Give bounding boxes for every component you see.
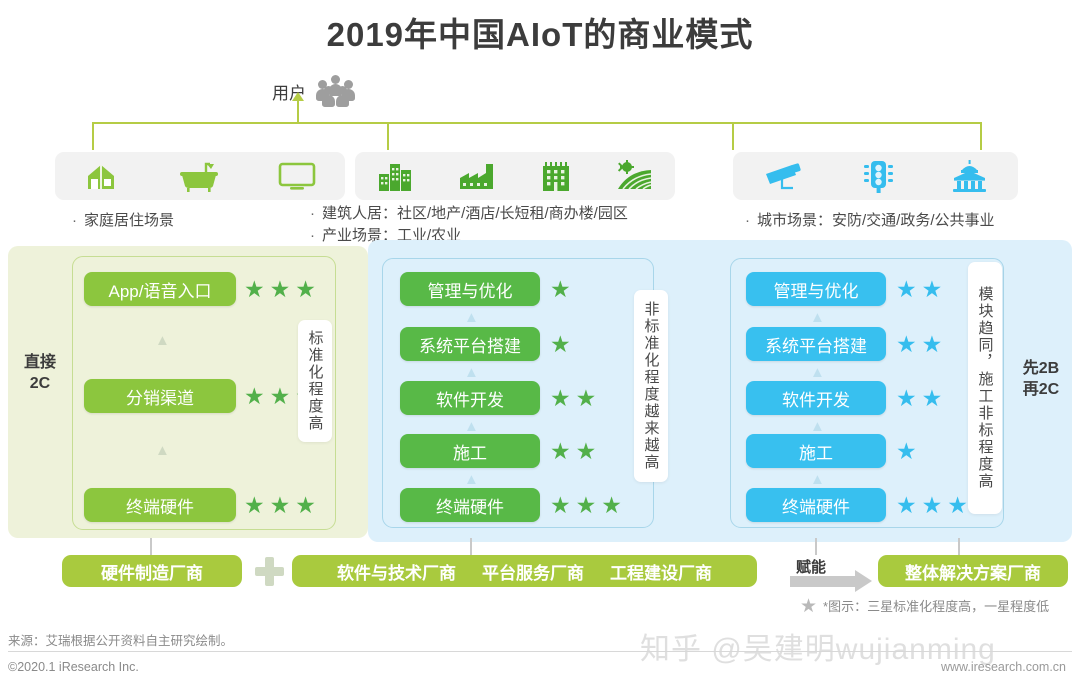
chip-system-platform-right[interactable]: 系统平台搭建	[746, 327, 886, 361]
side-label-2b: 先2B	[1010, 358, 1072, 379]
chip-terminal-hardware-2c[interactable]: 终端硬件	[84, 488, 236, 522]
enable-arrow-icon	[790, 576, 856, 587]
chip-terminal-hardware-mid[interactable]: 终端硬件	[400, 488, 540, 522]
page-title: 2019年中国AIoT的商业模式	[0, 8, 1080, 56]
flow-arrow-icon: ▲	[810, 419, 825, 434]
flow-arrow-icon: ▲	[464, 310, 479, 325]
infographic-root: 2019年中国AIoT的商业模式 用户	[0, 0, 1080, 691]
scene-panel-city	[733, 152, 1018, 200]
user-arrow-icon	[297, 100, 299, 124]
chip-app-voice-entry[interactable]: App/语音入口	[84, 272, 236, 306]
scene-panel-home	[55, 152, 345, 200]
stars-software-development-mid: ★★	[550, 387, 596, 410]
caption-home: · 家庭居住场景	[72, 210, 174, 232]
chip-software-development-mid[interactable]: 软件开发	[400, 381, 540, 415]
vendor-total-solution[interactable]: 整体解决方案厂商	[878, 555, 1068, 587]
caption-city: · 城市场景：安防/交通/政务/公共事业	[745, 210, 995, 232]
flow-arrow-icon: ▲	[464, 365, 479, 380]
vendor-engineering-label: 工程建设厂商	[610, 559, 712, 584]
caption-industry-line-1: 建筑人居：社区/地产/酒店/长短租/商办楼/园区	[322, 203, 628, 225]
house-icon	[82, 160, 122, 192]
note-standardization-high: 标准化程度高	[298, 320, 332, 442]
bullet-icon: ·	[310, 225, 315, 247]
stars-management-optimization-mid: ★	[550, 278, 571, 301]
source-note: 来源：艾瑞根据公开资料自主研究绘制。	[8, 630, 233, 649]
caption-home-line-1: 家庭居住场景	[84, 210, 174, 232]
side-label-line-2: 2C	[14, 373, 66, 394]
government-building-icon	[948, 159, 992, 193]
flow-arrow-icon: ▲	[464, 419, 479, 434]
connector-tick	[150, 538, 152, 555]
user-node: 用户	[272, 74, 358, 108]
factory-icon	[455, 160, 499, 192]
side-label-direct-2c: 直接 2C	[14, 352, 66, 394]
copyright-note: ©2020.1 iResearch Inc.	[8, 660, 139, 674]
stars-management-optimization-right: ★★	[896, 278, 942, 301]
chip-construction-right[interactable]: 施工	[746, 434, 886, 468]
flow-arrow-icon: ▲	[810, 472, 825, 487]
plus-icon	[254, 556, 284, 586]
side-label-2c: 再2C	[1010, 379, 1072, 400]
connector-tick	[958, 538, 960, 555]
chip-distribution-channel[interactable]: 分销渠道	[84, 379, 236, 413]
bullet-icon: ·	[72, 210, 77, 232]
stars-system-platform-right: ★★	[896, 333, 942, 356]
people-icon	[314, 74, 358, 108]
flow-arrow-icon: ▲	[810, 310, 825, 325]
traffic-light-icon	[861, 158, 895, 194]
stars-terminal-hardware-right: ★★★	[896, 494, 968, 517]
stars-app-voice-entry: ★★★	[244, 278, 316, 301]
chip-construction-mid[interactable]: 施工	[400, 434, 540, 468]
bullet-icon: ·	[745, 210, 750, 232]
flow-arrow-icon: ▲	[155, 333, 170, 348]
stars-software-development-right: ★★	[896, 387, 942, 410]
vendor-middle-group[interactable]: 软件与技术厂商 平台服务厂商 工程建设厂商	[292, 555, 757, 587]
divider	[8, 651, 1072, 652]
stars-construction-mid: ★★	[550, 440, 596, 463]
side-label-line-1: 直接	[14, 352, 66, 373]
stars-construction-right: ★	[896, 440, 917, 463]
stars-terminal-hardware-2c: ★★★	[244, 494, 316, 517]
farm-icon	[613, 159, 657, 193]
security-camera-icon	[760, 160, 808, 192]
office-building-icon	[536, 159, 576, 193]
chip-management-optimization-right[interactable]: 管理与优化	[746, 272, 886, 306]
caption-city-line-1: 城市场景：安防/交通/政务/公共事业	[757, 210, 995, 232]
city-buildings-icon	[374, 159, 418, 193]
scene-bracket-connector	[92, 122, 982, 152]
stars-system-platform-mid: ★	[550, 333, 571, 356]
side-label-2b-then-2c: 先2B 再2C	[1010, 358, 1072, 400]
vendor-platform-label: 平台服务厂商	[482, 559, 584, 584]
flow-arrow-icon: ▲	[810, 365, 825, 380]
chip-terminal-hardware-right[interactable]: 终端硬件	[746, 488, 886, 522]
chip-system-platform-mid[interactable]: 系统平台搭建	[400, 327, 540, 361]
bullet-icon: ·	[310, 203, 315, 225]
star-legend-footnote: ★ *图示：三星标准化程度高，一星程度低	[800, 598, 1075, 615]
legend-footnote-text: *图示：三星标准化程度高，一星程度低	[823, 598, 1049, 615]
note-module-convergence: 模块趋同，施工非标程度高	[968, 262, 1002, 514]
flow-arrow-icon: ▲	[155, 443, 170, 458]
vendor-hardware-label: 硬件制造厂商	[101, 559, 203, 584]
bathtub-icon	[176, 159, 222, 193]
chip-management-optimization-mid[interactable]: 管理与优化	[400, 272, 540, 306]
enable-label: 赋能	[796, 556, 826, 577]
scene-panel-industry	[355, 152, 675, 200]
tv-icon	[276, 160, 318, 192]
vendor-solution-label: 整体解决方案厂商	[905, 559, 1041, 584]
stars-terminal-hardware-mid: ★★★	[550, 494, 622, 517]
legend-star-icon: ★	[800, 598, 817, 615]
chip-software-development-right[interactable]: 软件开发	[746, 381, 886, 415]
connector-tick	[470, 538, 472, 555]
vendor-software-label: 软件与技术厂商	[337, 559, 456, 584]
note-nonstandard-increasing: 非标准化程度越来越高	[634, 290, 668, 482]
vendor-hardware-manufacturers[interactable]: 硬件制造厂商	[62, 555, 242, 587]
connector-tick	[815, 538, 817, 555]
site-url: www.iresearch.com.cn	[941, 660, 1066, 674]
flow-arrow-icon: ▲	[464, 472, 479, 487]
